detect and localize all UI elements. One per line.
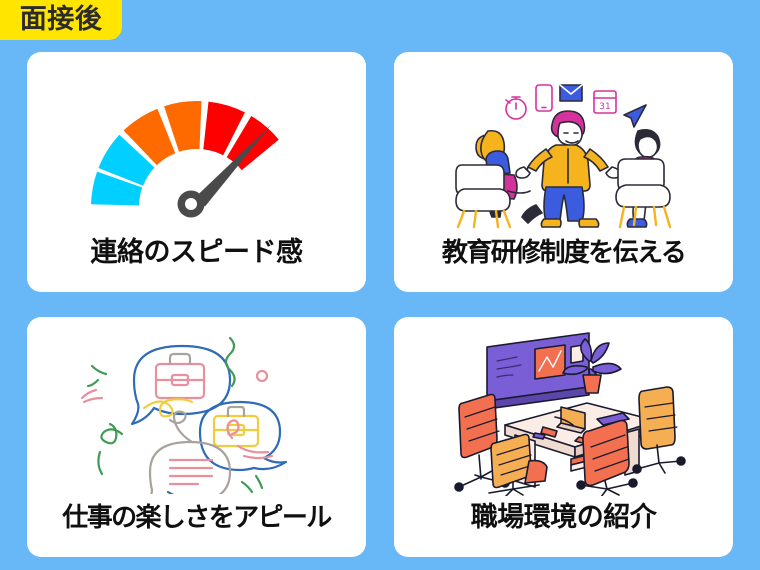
card-title: 仕事の楽しさをアピール <box>62 505 330 557</box>
speed-gauge-icon <box>27 52 366 239</box>
card-title: 教育研修制度を伝える <box>442 240 685 292</box>
card-grid: 連絡のスピード感 <box>27 52 733 557</box>
section-badge: 面接後 <box>0 0 122 40</box>
section-badge-label: 面接後 <box>20 6 103 33</box>
office-workspace-icon <box>394 317 733 504</box>
svg-text:31: 31 <box>599 102 610 112</box>
card-workplace-environment[interactable]: 職場環境の紹介 <box>394 317 733 557</box>
presentation-meeting-icon: 31 <box>394 52 733 240</box>
card-title: 職場環境の紹介 <box>471 504 657 557</box>
card-training-system[interactable]: 31 <box>394 52 733 292</box>
card-contact-speed[interactable]: 連絡のスピード感 <box>27 52 366 292</box>
card-title: 連絡のスピード感 <box>91 239 303 292</box>
card-job-enjoyment[interactable]: 仕事の楽しさをアピール <box>27 317 366 557</box>
speech-bubbles-briefcase-icon <box>27 317 366 505</box>
